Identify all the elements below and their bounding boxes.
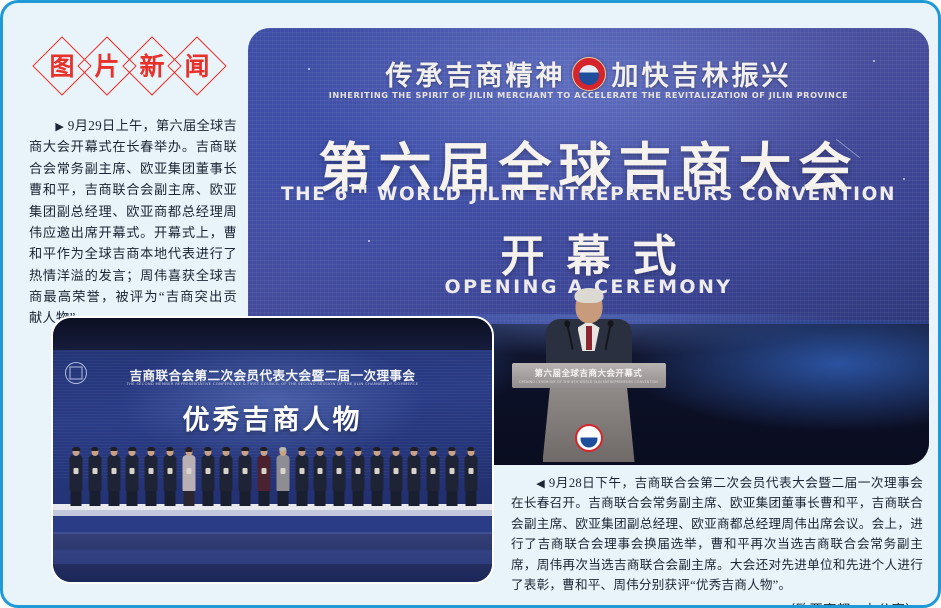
honouree-figure — [107, 448, 121, 506]
honouree-figure — [144, 448, 158, 506]
honouree-figure — [445, 448, 459, 506]
speaker-hair — [574, 288, 603, 303]
honouree-legs — [352, 489, 363, 506]
convention-title-en: THE 6TH WORLD JILIN ENTREPRENEURS CONVEN… — [248, 183, 929, 205]
honouree-legs — [409, 489, 420, 506]
honouree-hair — [411, 447, 419, 451]
honouree-legs — [371, 489, 382, 506]
honouree-figure — [219, 448, 233, 506]
honouree-figure — [163, 448, 177, 506]
title-en-ordinal: TH — [349, 183, 369, 196]
header-char-1: 图 — [49, 54, 74, 79]
honouree-hair — [260, 447, 268, 451]
honouree-figure — [69, 448, 83, 506]
honouree-legs — [428, 489, 439, 506]
trophy-icon — [318, 468, 323, 474]
honouree-figure — [464, 448, 478, 506]
outstanding-entrepreneurs-photo: 吉商联合会第二次会员代表大会暨二届一次理事会 THE SECOND MEMBER… — [51, 316, 494, 584]
honouree-legs — [446, 489, 457, 506]
honouree-legs — [390, 489, 401, 506]
newspaper-page: 图 片 新 闻 ▶ 9月29日上午，第六届全球吉商大会开幕式在长春举办。吉商联合… — [0, 0, 941, 608]
honouree-legs — [296, 489, 307, 506]
header-char-4: 闻 — [184, 54, 209, 79]
honouree-legs — [465, 489, 476, 506]
honouree-legs — [146, 489, 157, 506]
trophy-icon — [224, 468, 229, 474]
trophy-icon — [205, 468, 210, 474]
honouree-figure — [313, 448, 327, 506]
honouree-figure — [88, 448, 102, 506]
honouree-figure — [295, 448, 309, 506]
honouree-hair — [279, 447, 287, 451]
honouree-hair — [317, 447, 325, 451]
honouree-figure — [332, 448, 346, 506]
honouree-hair — [429, 447, 437, 451]
ceiling-band — [53, 318, 492, 350]
trophy-icon — [355, 468, 360, 474]
honouree-hair — [448, 447, 456, 451]
header-diamond-4: 闻 — [168, 37, 226, 95]
honouree-figure — [257, 448, 271, 506]
honouree-figure — [370, 448, 384, 506]
article-right-text: 9月28日下午，吉商联合会第二次会员代表大会暨二届一次理事会在长春召开。吉商联合… — [511, 476, 923, 592]
header-char-3: 新 — [139, 54, 164, 79]
honouree-figure — [426, 448, 440, 506]
speaker-tie — [586, 326, 592, 350]
honouree-figure — [276, 448, 290, 506]
honouree-hair — [110, 447, 118, 451]
trophy-icon — [468, 468, 473, 474]
banner-text-left: 传承吉商精神 — [386, 54, 566, 93]
honouree-hair — [373, 447, 381, 451]
honouree-hair — [147, 447, 155, 451]
honouree-hair — [185, 447, 193, 452]
trophy-icon — [299, 468, 304, 474]
honouree-figure — [351, 448, 365, 506]
honouree-figure — [389, 448, 403, 506]
stage-light-right — [629, 320, 929, 430]
stage-floor-sheen — [53, 532, 492, 584]
honouree-hair — [241, 447, 249, 451]
trophy-icon — [149, 468, 154, 474]
trophy-icon — [186, 468, 191, 474]
trophy-icon — [167, 468, 172, 474]
jilin-chamber-emblem-icon — [572, 57, 606, 91]
honouree-legs — [258, 489, 269, 506]
honouree-legs — [240, 489, 251, 506]
trophy-icon — [130, 468, 135, 474]
trophy-icon — [449, 468, 454, 474]
honouree-hair — [166, 447, 174, 451]
honouree-legs — [127, 489, 138, 506]
article-right-marker: ◀ — [536, 477, 545, 490]
honouree-hair — [467, 447, 475, 451]
trophy-icon — [243, 468, 248, 474]
honouree-row — [69, 444, 478, 506]
honouree-legs — [164, 489, 175, 506]
honouree-legs — [334, 489, 345, 506]
article-left-marker: ▶ — [55, 120, 64, 133]
article-right: ◀ 9月28日下午，吉商联合会第二次会员代表大会暨二届一次理事会在长春召开。吉商… — [511, 473, 923, 608]
title-en-pre: THE 6 — [281, 184, 349, 205]
article-left-text: 9月29日上午，第六届全球吉商大会开幕式在长春举办。吉商联合会常务副主席、欧亚集… — [29, 118, 237, 325]
honouree-hair — [335, 447, 343, 451]
honouree-hair — [72, 447, 80, 451]
podium-sign-en: OPENING CEREMONY OF THE 6TH WORLD JILIN … — [519, 380, 658, 384]
trophy-icon — [74, 468, 79, 474]
podium-emblem-icon — [575, 424, 603, 452]
honouree-hair — [354, 447, 362, 451]
trophy-icon — [374, 468, 379, 474]
title-en-post: WORLD JILIN ENTREPRENEURS CONVENTION — [369, 184, 896, 205]
article-left-body: ▶ 9月29日上午，第六届全球吉商大会开幕式在长春举办。吉商联合会常务副主席、欧… — [29, 115, 237, 329]
secondary-banner-en: THE SECOND MEMBER REPRESENTATIVE CONFERE… — [53, 381, 492, 386]
trophy-icon — [393, 468, 398, 474]
honouree-legs — [183, 489, 194, 506]
honouree-legs — [315, 489, 326, 506]
trophy-icon — [412, 468, 417, 474]
photo-main-banner: 传承吉商精神 加快吉林振兴 — [248, 54, 929, 93]
honouree-figure — [407, 448, 421, 506]
honouree-legs — [202, 489, 213, 506]
honouree-figure — [201, 448, 215, 506]
honouree-hair — [223, 447, 231, 451]
article-right-body: ◀ 9月28日下午，吉商联合会第二次会员代表大会暨二届一次理事会在长春召开。吉商… — [511, 473, 923, 595]
honouree-legs — [89, 489, 100, 506]
honouree-hair — [129, 447, 137, 451]
podium-sign-cn: 第六届全球吉商大会开幕式 — [535, 367, 643, 379]
trophy-icon — [337, 468, 342, 474]
honouree-hair — [298, 447, 306, 451]
honouree-hair — [392, 447, 400, 451]
banner-subtitle-en: INHERITING THE SPIRIT OF JILIN MERCHANT … — [248, 90, 929, 100]
trophy-icon — [92, 468, 97, 474]
header-char-2: 片 — [94, 54, 119, 79]
honouree-hair — [204, 447, 212, 451]
trophy-icon — [280, 468, 285, 474]
honouree-figure — [182, 448, 196, 506]
secondary-headline-cn: 优秀吉商人物 — [53, 398, 492, 437]
ceremony-subtitle-cn: 开幕式 — [248, 220, 929, 284]
trophy-icon — [431, 468, 436, 474]
article-right-byline: （欧亚商都 办公室） — [511, 599, 923, 608]
honouree-legs — [108, 489, 119, 506]
trophy-icon — [111, 468, 116, 474]
trophy-icon — [261, 468, 266, 474]
banner-text-right: 加快吉林振兴 — [612, 54, 792, 93]
podium-sign: 第六届全球吉商大会开幕式 OPENING CEREMONY OF THE 6TH… — [512, 363, 666, 388]
honouree-legs — [71, 489, 82, 506]
honouree-legs — [221, 489, 232, 506]
section-header-picture-news: 图 片 新 闻 — [33, 37, 213, 95]
honouree-figure — [125, 448, 139, 506]
honouree-hair — [91, 447, 99, 451]
honouree-figure — [238, 448, 252, 506]
honouree-legs — [277, 489, 288, 506]
